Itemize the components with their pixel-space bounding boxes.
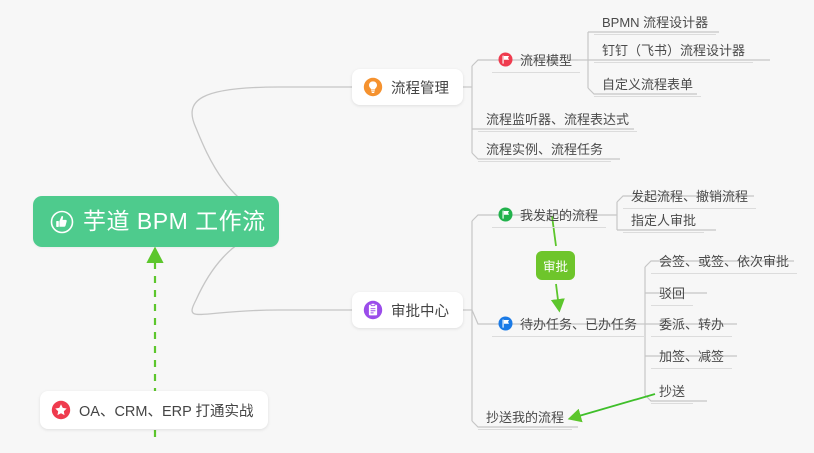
node-dingtalk-feishu-designer[interactable]: 钉钉（飞书）流程设计器: [594, 37, 753, 63]
link-root-to-process-management: [192, 87, 352, 214]
node-label: 驳回: [659, 283, 685, 302]
node-approval-center[interactable]: 审批中心: [352, 292, 463, 328]
node-label: 流程实例、流程任务: [486, 139, 603, 158]
node-todo-done-task[interactable]: 待办任务、已办任务: [492, 311, 645, 337]
node-label: 审批中心: [391, 300, 449, 321]
approval-badge-label: 审批: [543, 256, 568, 275]
node-label: 钉钉（飞书）流程设计器: [602, 40, 745, 59]
node-multi-sign[interactable]: 会签、或签、依次审批: [651, 248, 797, 274]
root-node[interactable]: 芋道 BPM 工作流: [33, 196, 279, 247]
cc-annotation-arrow: [572, 394, 655, 418]
node-integration-note[interactable]: OA、CRM、ERP 打通实战: [40, 391, 268, 429]
node-instance-task[interactable]: 流程实例、流程任务: [478, 136, 611, 162]
node-custom-process-form[interactable]: 自定义流程表单: [594, 71, 701, 97]
lightbulb-icon: [363, 77, 383, 97]
node-process-model[interactable]: 流程模型: [492, 47, 580, 73]
node-delegate-transfer[interactable]: 委派、转办: [651, 311, 732, 337]
node-label: OA、CRM、ERP 打通实战: [79, 400, 254, 421]
clipboard-icon: [363, 300, 383, 320]
flag-icon: [498, 316, 513, 331]
node-listener-expression[interactable]: 流程监听器、流程表达式: [478, 106, 637, 132]
mindmap-canvas: 芋道 BPM 工作流 流程管理 流程模型 BPMN 流程设计器 钉钉（飞书）流程: [0, 0, 814, 453]
approval-badge[interactable]: 审批: [536, 251, 575, 280]
node-label: 我发起的流程: [520, 205, 598, 224]
node-label: 待办任务、已办任务: [520, 314, 637, 333]
node-label: BPMN 流程设计器: [602, 12, 708, 31]
node-cc-to-me[interactable]: 抄送我的流程: [478, 404, 572, 430]
thumbs-up-icon: [50, 210, 74, 234]
node-assignee-approval[interactable]: 指定人审批: [623, 207, 704, 233]
root-label: 芋道 BPM 工作流: [83, 210, 266, 233]
node-bpmn-designer[interactable]: BPMN 流程设计器: [594, 9, 716, 35]
node-label: 流程管理: [391, 77, 449, 98]
flag-icon: [498, 207, 513, 222]
node-add-remove-sign[interactable]: 加签、减签: [651, 343, 732, 369]
node-cc[interactable]: 抄送: [651, 378, 693, 404]
node-start-cancel[interactable]: 发起流程、撤销流程: [623, 183, 756, 209]
node-label: 加签、减签: [659, 346, 724, 365]
flag-icon: [498, 52, 513, 67]
node-label: 抄送我的流程: [486, 407, 564, 426]
node-label: 自定义流程表单: [602, 74, 693, 93]
node-reject[interactable]: 驳回: [651, 280, 693, 306]
node-label: 发起流程、撤销流程: [631, 186, 748, 205]
approval-arrow-lower-segment: [556, 284, 559, 308]
node-label: 委派、转办: [659, 314, 724, 333]
node-label: 抄送: [659, 381, 685, 400]
node-my-initiated[interactable]: 我发起的流程: [492, 202, 606, 228]
node-label: 指定人审批: [631, 210, 696, 229]
node-label: 会签、或签、依次审批: [659, 251, 789, 270]
node-label: 流程监听器、流程表达式: [486, 109, 629, 128]
node-process-management[interactable]: 流程管理: [352, 69, 463, 105]
star-icon: [51, 400, 71, 420]
node-label: 流程模型: [520, 50, 572, 69]
